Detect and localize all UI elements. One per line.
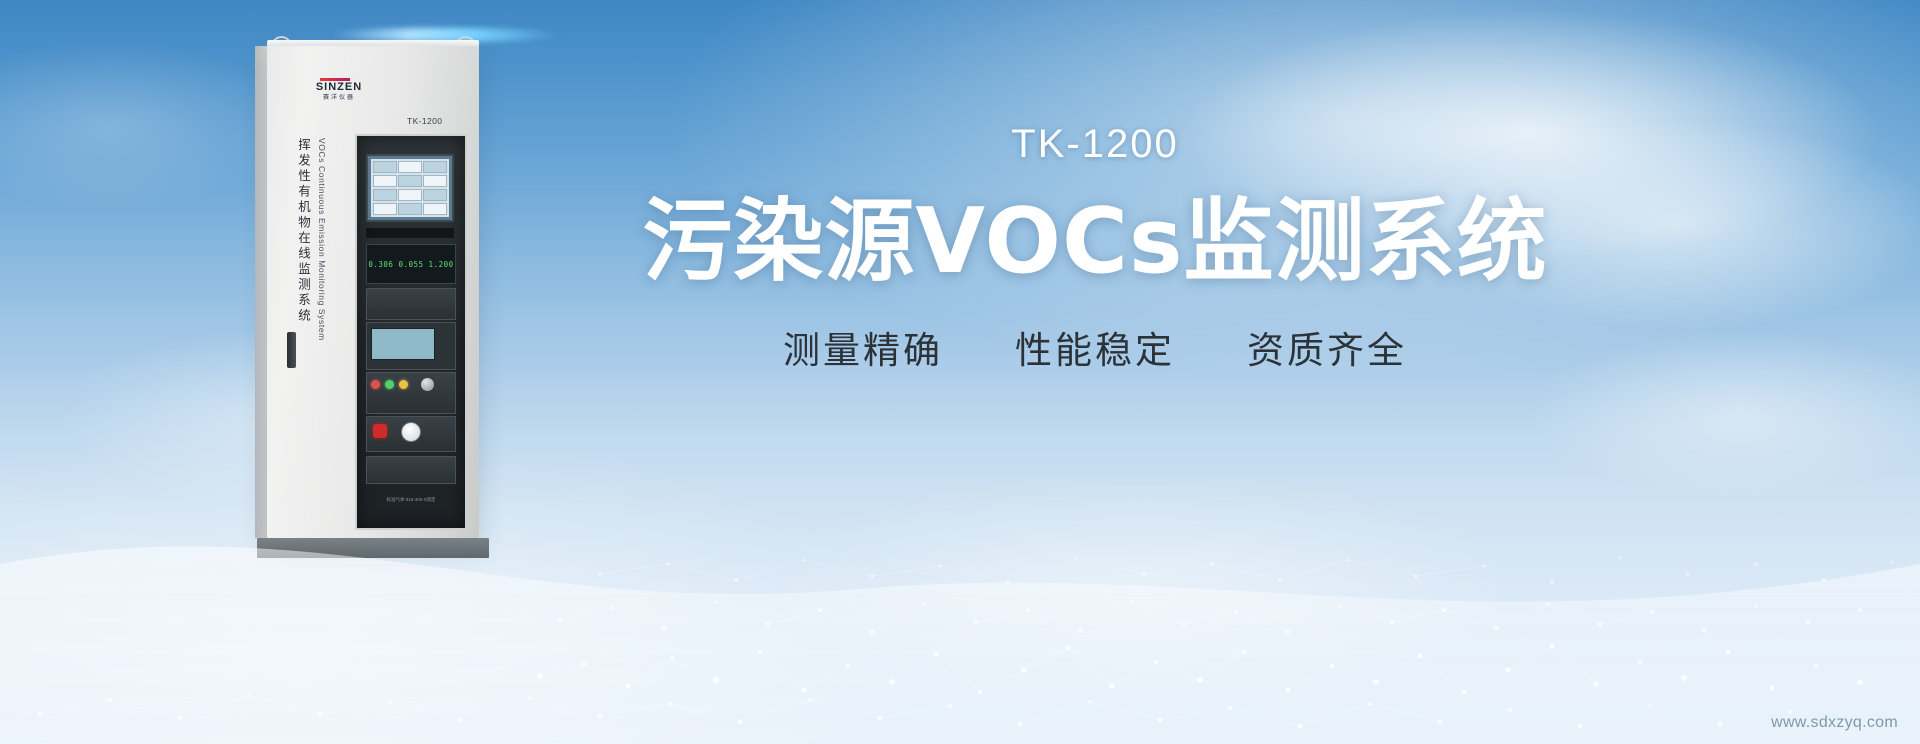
promo-banner: SINZEN 赛洋仪器 TK-1200 挥发性有机物在线监测系统 VOCs Co… <box>0 0 1920 744</box>
instrument-lcd-screen <box>371 328 435 360</box>
cabinet-vent-stripe <box>366 228 454 238</box>
tagline-item-1: 测量精确 <box>783 328 943 374</box>
cloud-decoration <box>760 470 1520 700</box>
hmi-touch-panel <box>366 154 454 222</box>
cabinet-vertical-text-en: VOCs Continuous Emission Monitoring Syst… <box>317 138 327 341</box>
status-led-green-icon <box>385 380 394 389</box>
cabinet-model-plate: TK-1200 <box>407 116 442 126</box>
analyzer-readout-value: 0.306 0.055 1.200 <box>368 260 453 269</box>
tagline-row: 测量精确 性能稳定 资质齐全 <box>545 328 1645 374</box>
headline-block: TK-1200 污染源VOCs监测系统 测量精确 性能稳定 资质齐全 <box>545 120 1645 374</box>
cabinet-brand-logo: SINZEN 赛洋仪器 <box>302 78 376 102</box>
hmi-screen-grid <box>371 159 449 217</box>
status-led-yellow-icon <box>399 380 408 389</box>
pressure-gauge-icon <box>401 422 421 442</box>
page-title: 污染源VOCs监测系统 <box>545 190 1645 294</box>
site-watermark: www.sdxzyq.com <box>1771 714 1898 732</box>
cabinet-body: SINZEN 赛洋仪器 TK-1200 挥发性有机物在线监测系统 VOCs Co… <box>267 46 479 538</box>
cabinet-vertical-text-cn: 挥发性有机物在线监测系统 <box>295 138 311 341</box>
brand-name: SINZEN <box>302 82 376 93</box>
instrument-bottom-note: 标准气体 815-300-0测定 <box>357 496 465 503</box>
analyzer-readout-display: 0.306 0.055 1.200 <box>366 244 456 284</box>
cabinet-vertical-text: 挥发性有机物在线监测系统 VOCs Continuous Emission Mo… <box>295 138 327 341</box>
status-led-group <box>371 380 408 389</box>
status-led-red-icon <box>371 380 380 389</box>
cabinet-door-handle <box>287 332 296 368</box>
product-cabinet-image: SINZEN 赛洋仪器 TK-1200 挥发性有机物在线监测系统 VOCs Co… <box>255 22 505 562</box>
emergency-button-icon <box>373 424 387 438</box>
brand-subtitle: 赛洋仪器 <box>302 94 376 102</box>
instrument-module <box>366 372 456 414</box>
instrument-module <box>366 288 456 320</box>
instrument-module <box>366 456 456 484</box>
cabinet-instrument-door: 0.306 0.055 1.200 标准气体 815-300-0测定 <box>355 134 467 530</box>
tagline-item-3: 资质齐全 <box>1247 328 1407 374</box>
cabinet-base-plinth <box>257 538 489 558</box>
control-knob-icon <box>421 378 434 391</box>
tagline-item-2: 性能稳定 <box>1015 328 1175 374</box>
product-model-label: TK-1200 <box>545 120 1645 168</box>
